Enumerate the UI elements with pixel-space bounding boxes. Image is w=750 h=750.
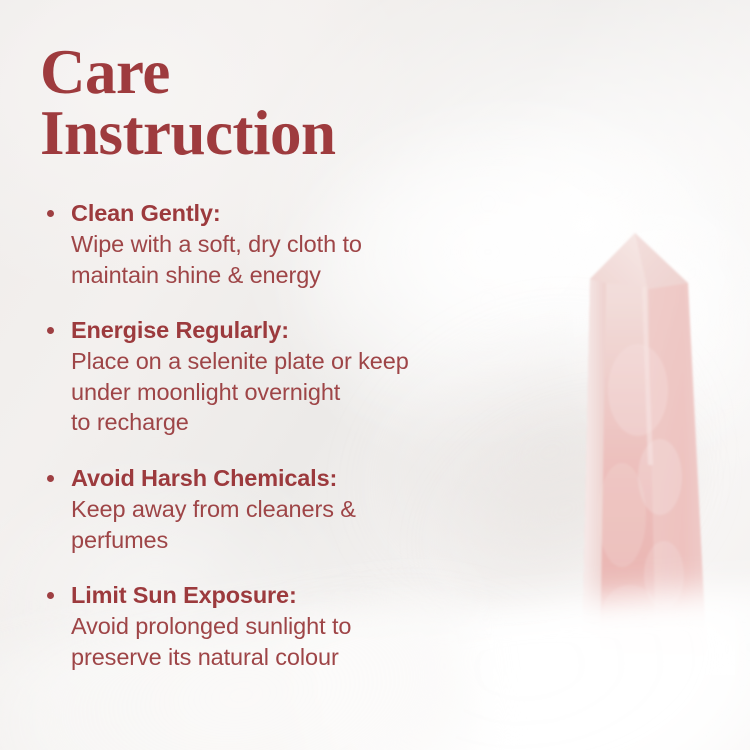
care-item-heading: Limit Sun Exposure: (71, 580, 540, 611)
page-title: Care Instruction (40, 42, 750, 164)
care-item-body: Keep away from cleaners & perfumes (71, 494, 540, 555)
care-item-heading: Energise Regularly: (71, 315, 540, 346)
care-item-body: Avoid prolonged sunlight to preserve its… (71, 611, 540, 672)
care-instruction-card: Care Instruction Clean Gently: Wipe with… (0, 0, 750, 750)
list-item: Clean Gently: Wipe with a soft, dry clot… (40, 198, 540, 290)
bullet-dot-icon (47, 210, 54, 217)
content-column: Care Instruction Clean Gently: Wipe with… (0, 0, 750, 672)
bullet-dot-icon (47, 592, 54, 599)
care-item-body: Place on a selenite plate or keep under … (71, 346, 540, 438)
list-item: Limit Sun Exposure: Avoid prolonged sunl… (40, 580, 540, 672)
care-item-heading: Clean Gently: (71, 198, 540, 229)
list-item: Energise Regularly: Place on a selenite … (40, 315, 540, 438)
bullet-dot-icon (47, 475, 54, 482)
care-item-body: Wipe with a soft, dry cloth to maintain … (71, 229, 540, 290)
care-item-heading: Avoid Harsh Chemicals: (71, 463, 540, 494)
bullet-dot-icon (47, 327, 54, 334)
care-instruction-list: Clean Gently: Wipe with a soft, dry clot… (40, 198, 540, 672)
list-item: Avoid Harsh Chemicals: Keep away from cl… (40, 463, 540, 555)
